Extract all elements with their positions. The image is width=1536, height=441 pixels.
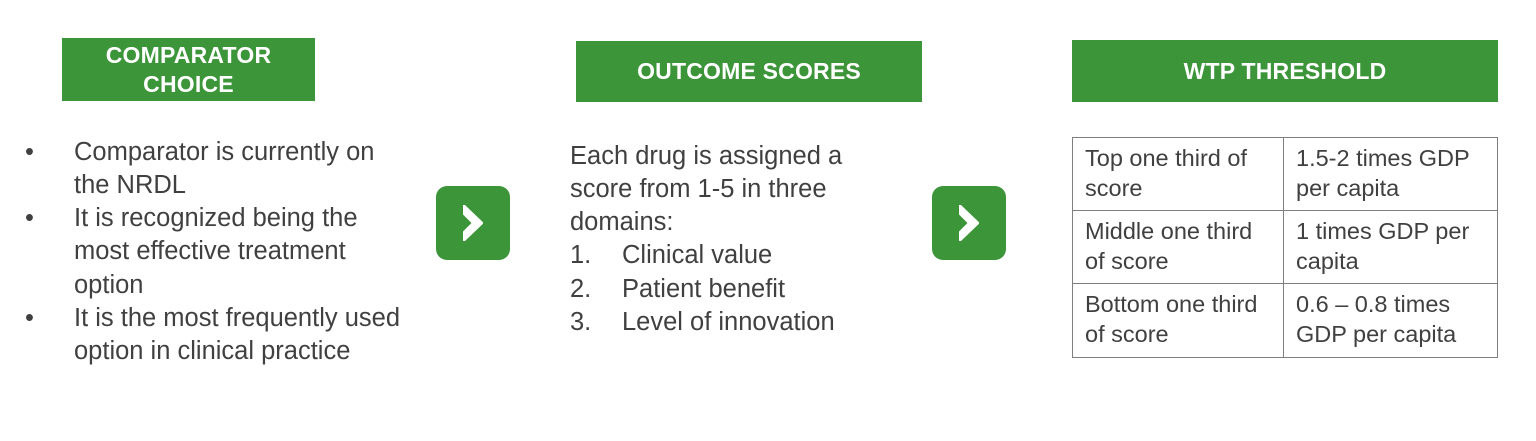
wtp-threshold-table: Top one third of score 1.5-2 times GDP p… [1072, 137, 1498, 358]
comparator-bullet-list: • Comparator is currently on the NRDL • … [8, 136, 408, 368]
list-item: • It is recognized being the most effect… [8, 202, 408, 301]
bullet-marker-icon: • [25, 302, 34, 335]
diagram-canvas: COMPARATOR CHOICE • Comparator is curren… [0, 0, 1536, 441]
banner-wtp-threshold: WTP THRESHOLD [1072, 40, 1498, 102]
list-item-label: It is recognized being the most effectiv… [74, 204, 358, 298]
chevron-right-icon [456, 203, 490, 243]
outcome-scores-paragraph: Each drug is assigned a score from 1-5 i… [570, 140, 910, 239]
list-item-number: 1. [570, 239, 591, 272]
list-item: 3. Level of innovation [570, 306, 910, 339]
list-item: 1. Clinical value [570, 239, 910, 272]
table-cell-threshold: 1 times GDP per capita [1284, 211, 1498, 284]
table-cell-threshold: 0.6 – 0.8 times GDP per capita [1284, 284, 1498, 357]
table-cell-tier: Bottom one third of score [1073, 284, 1284, 357]
list-item-label: Clinical value [622, 241, 772, 269]
list-item: • It is the most frequently used option … [8, 302, 408, 368]
list-item: • Comparator is currently on the NRDL [8, 136, 408, 202]
table-cell-threshold: 1.5-2 times GDP per capita [1284, 138, 1498, 211]
outcome-scores-content: Each drug is assigned a score from 1-5 i… [570, 140, 910, 339]
list-item-label: Patient benefit [622, 275, 785, 303]
chevron-right-icon [952, 203, 986, 243]
list-item: 2. Patient benefit [570, 273, 910, 306]
bullet-marker-icon: • [25, 136, 34, 169]
list-item-number: 3. [570, 306, 591, 339]
list-item-label: Level of innovation [622, 308, 835, 336]
flow-arrow-2 [932, 186, 1006, 260]
table-row: Top one third of score 1.5-2 times GDP p… [1073, 138, 1498, 211]
bullet-marker-icon: • [25, 202, 34, 235]
table-row: Middle one third of score 1 times GDP pe… [1073, 211, 1498, 284]
table-row: Bottom one third of score 0.6 – 0.8 time… [1073, 284, 1498, 357]
list-item-label: It is the most frequently used option in… [74, 304, 400, 365]
comparator-choice-content: • Comparator is currently on the NRDL • … [8, 136, 408, 368]
list-item-label: Comparator is currently on the NRDL [74, 138, 374, 199]
banner-outcome-scores: OUTCOME SCORES [576, 41, 922, 102]
flow-arrow-1 [436, 186, 510, 260]
outcome-domains-list: 1. Clinical value 2. Patient benefit 3. … [570, 239, 910, 338]
banner-comparator-choice: COMPARATOR CHOICE [62, 38, 315, 101]
table-cell-tier: Top one third of score [1073, 138, 1284, 211]
table-cell-tier: Middle one third of score [1073, 211, 1284, 284]
list-item-number: 2. [570, 273, 591, 306]
